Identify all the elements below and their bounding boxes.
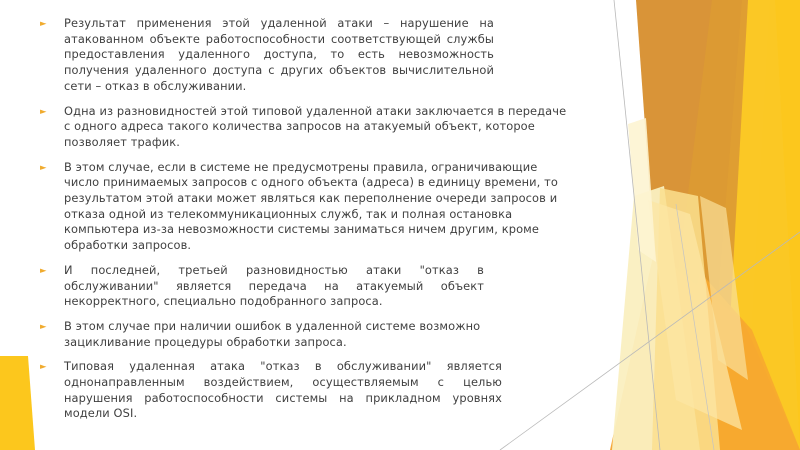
bullet-arrow-icon: ► [38,16,64,33]
list-item: ► И последней, третьей разновидностью ат… [38,263,630,310]
bullet-arrow-icon: ► [38,359,64,376]
bullet-arrow-icon: ► [38,319,64,336]
bullet-text: В этом случае при наличии ошибок в удале… [64,319,559,350]
bullet-text: Одна из разновидностей этой типовой удал… [64,104,569,151]
bullet-arrow-icon: ► [38,104,64,121]
list-item: ► Типовая удаленная атака "отказ в обслу… [38,359,630,422]
bullet-text: Результат применения этой удаленной атак… [64,16,494,95]
slide-body: ► Результат применения этой удаленной ат… [0,0,800,450]
list-item: ► Результат применения этой удаленной ат… [38,16,630,95]
presentation-slide: ► Результат применения этой удаленной ат… [0,0,800,450]
bullet-text: Типовая удаленная атака "отказ в обслужи… [64,359,502,422]
list-item: ► В этом случае при наличии ошибок в уда… [38,319,630,350]
bullet-text: В этом случае, если в системе не предусм… [64,160,564,254]
bullet-text: И последней, третьей разновидностью атак… [64,263,484,310]
bullet-arrow-icon: ► [38,263,64,280]
bullet-arrow-icon: ► [38,160,64,177]
list-item: ► Одна из разновидностей этой типовой уд… [38,104,630,151]
list-item: ► В этом случае, если в системе не преду… [38,160,630,254]
